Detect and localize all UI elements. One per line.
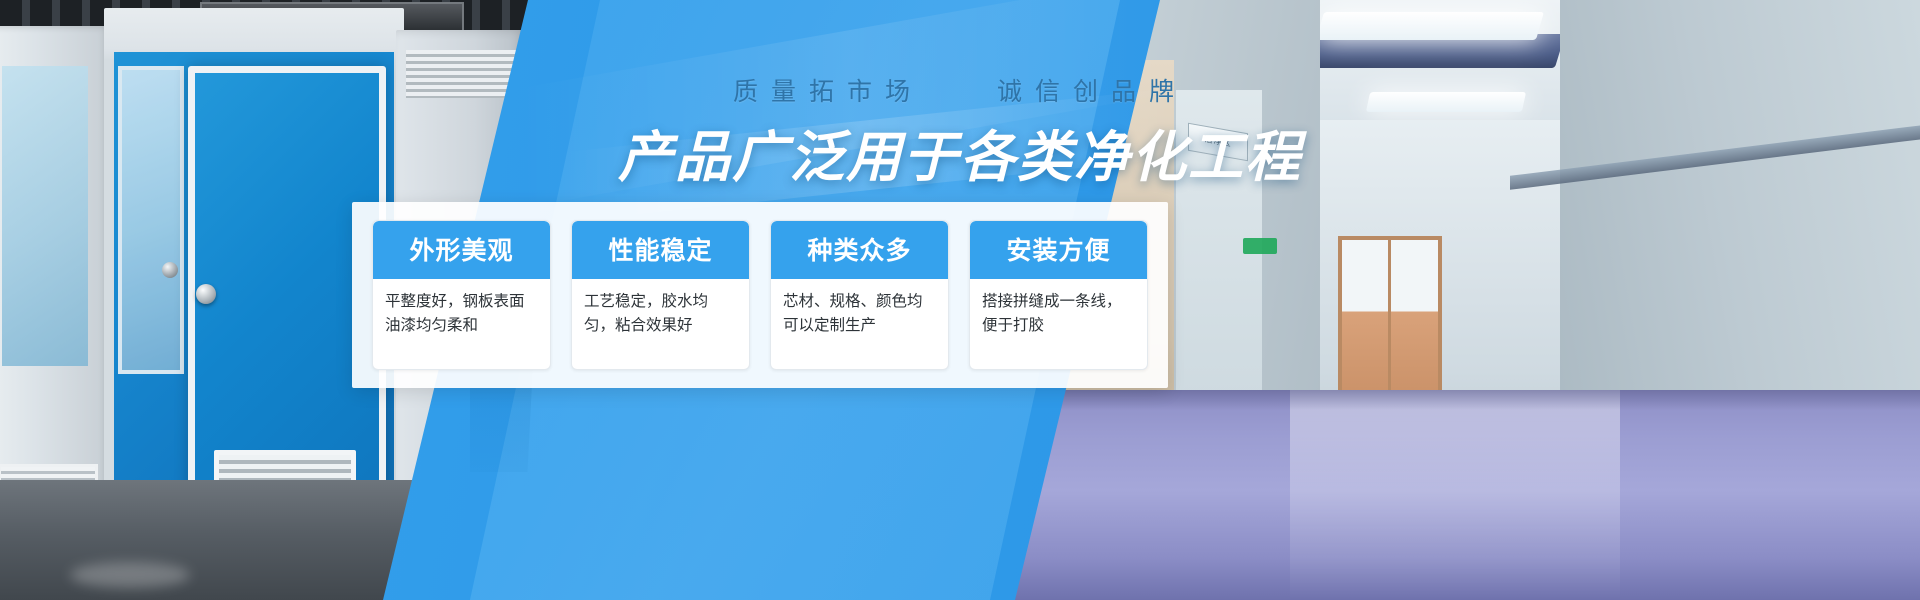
corridor-floor bbox=[990, 390, 1920, 600]
feature-card-list: 外形美观 平整度好，钢板表面油漆均匀柔和 性能稳定 工艺稳定，胶水均匀，粘合效果… bbox=[352, 202, 1168, 388]
feature-card-body: 平整度好，钢板表面油漆均匀柔和 bbox=[373, 279, 550, 369]
ceiling-light-icon bbox=[1316, 12, 1544, 40]
feature-card-title: 种类众多 bbox=[771, 221, 948, 279]
cabin-glass-panel bbox=[2, 66, 88, 366]
promo-banner: 洁净区 质量拓市场 诚信创品牌 产品广泛用于各类净化工程 外形美观 平整度好，钢… bbox=[0, 0, 1920, 600]
feature-card-title: 外形美观 bbox=[373, 221, 550, 279]
feature-card[interactable]: 外形美观 平整度好，钢板表面油漆均匀柔和 bbox=[372, 220, 551, 370]
feature-card-body: 芯材、规格、颜色均可以定制生产 bbox=[771, 279, 948, 369]
feature-card[interactable]: 种类众多 芯材、规格、颜色均可以定制生产 bbox=[770, 220, 949, 370]
cabin-door-handle-icon bbox=[196, 284, 216, 304]
banner-headline: 产品广泛用于各类净化工程 bbox=[0, 112, 1920, 192]
feature-card[interactable]: 性能稳定 工艺稳定，胶水均匀，粘合效果好 bbox=[571, 220, 750, 370]
corridor-end-door bbox=[1338, 236, 1442, 414]
cabin-lock-icon bbox=[162, 262, 178, 278]
tagline-right-text: 诚信创品牌 bbox=[997, 78, 1187, 106]
feature-card-body: 搭接拼缝成一条线，便于打胶 bbox=[970, 279, 1147, 369]
feature-card[interactable]: 安装方便 搭接拼缝成一条线，便于打胶 bbox=[969, 220, 1148, 370]
feature-card-body: 工艺稳定，胶水均匀，粘合效果好 bbox=[572, 279, 749, 369]
feature-card-title: 安装方便 bbox=[970, 221, 1147, 279]
feature-card-title: 性能稳定 bbox=[572, 221, 749, 279]
tagline-left-text: 质量拓市场 bbox=[733, 78, 923, 106]
exit-sign-icon bbox=[1243, 238, 1277, 254]
banner-tagline: 质量拓市场 诚信创品牌 bbox=[0, 72, 1920, 108]
